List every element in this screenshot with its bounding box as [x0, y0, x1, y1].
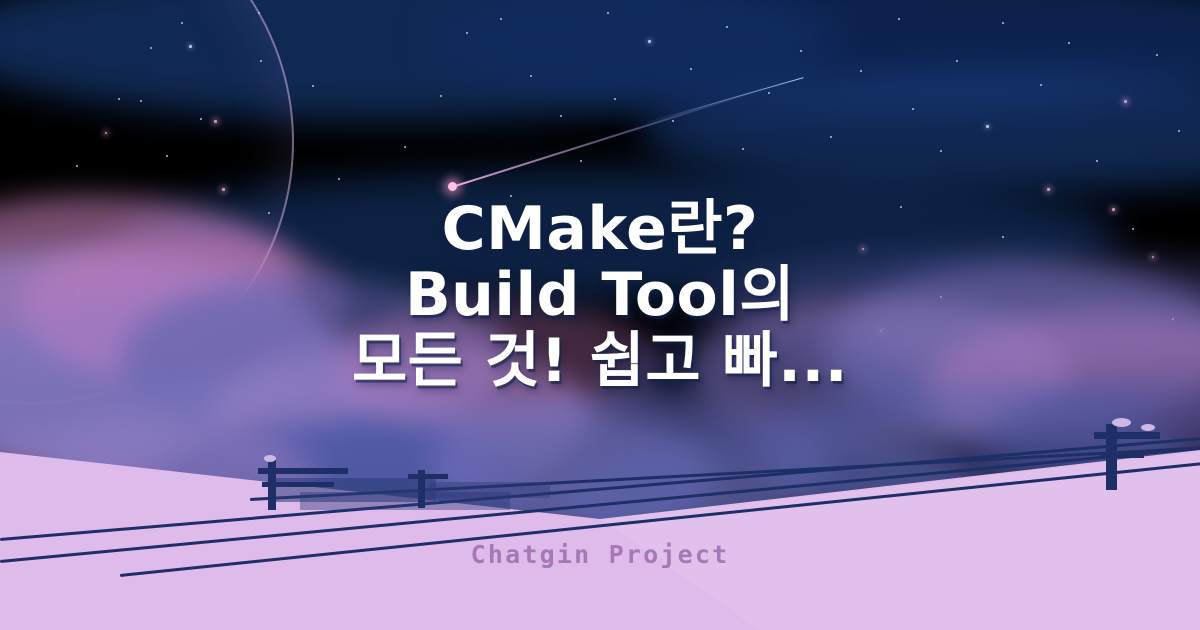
star — [189, 45, 192, 48]
brand-label: Chatgin Project — [0, 540, 1200, 569]
star — [440, 95, 442, 97]
star — [830, 136, 832, 138]
star — [140, 100, 142, 102]
star — [768, 92, 770, 94]
utility-pole — [258, 468, 348, 474]
star — [860, 70, 862, 72]
star — [1178, 130, 1180, 132]
star — [690, 68, 692, 70]
og-card: CMake란? Build Tool의 모든 것! 쉽고 빠... Chatgi… — [0, 0, 1200, 630]
star — [530, 75, 532, 77]
star — [580, 160, 582, 162]
pole-lamp — [264, 455, 276, 462]
star — [1156, 54, 1158, 56]
star — [672, 120, 674, 122]
star — [258, 12, 260, 14]
star — [956, 60, 958, 62]
star — [466, 32, 468, 34]
star — [940, 150, 942, 152]
star-pink — [1124, 100, 1127, 103]
utility-pole — [1094, 432, 1160, 439]
star — [800, 50, 802, 52]
page-title: CMake란? Build Tool의 모든 것! 쉽고 빠... — [0, 196, 1200, 394]
star — [166, 155, 168, 157]
star-pink — [214, 120, 217, 123]
star — [986, 125, 989, 128]
title-line-1: CMake란? — [0, 196, 1200, 262]
structure-silhouette — [430, 482, 550, 498]
star — [404, 146, 406, 148]
star — [607, 12, 609, 14]
utility-pole — [262, 482, 334, 487]
pole-lamp — [1112, 418, 1131, 427]
star — [181, 22, 183, 24]
star — [912, 108, 914, 110]
star — [1040, 84, 1042, 86]
star — [76, 165, 78, 167]
star — [742, 148, 744, 150]
star-pink — [222, 188, 225, 191]
title-line-2: Build Tool의 — [0, 262, 1200, 328]
star — [260, 60, 262, 62]
title-line-3: 모든 것! 쉽고 빠... — [0, 328, 1200, 394]
star — [1068, 42, 1070, 44]
star — [200, 118, 202, 120]
star — [150, 47, 152, 49]
star — [648, 40, 651, 43]
star — [898, 18, 900, 20]
utility-pole — [408, 474, 448, 479]
star-pink — [1047, 188, 1050, 191]
star — [312, 85, 314, 87]
star — [118, 98, 120, 100]
utility-pole — [1100, 452, 1144, 458]
star — [614, 98, 616, 100]
star — [1096, 160, 1098, 162]
star — [500, 18, 502, 20]
star — [560, 115, 562, 117]
shooting-star-head — [448, 182, 457, 191]
pole-lamp — [1141, 424, 1155, 431]
star — [726, 26, 728, 28]
star — [1002, 22, 1004, 24]
star-pink — [105, 132, 107, 134]
star — [338, 178, 340, 180]
